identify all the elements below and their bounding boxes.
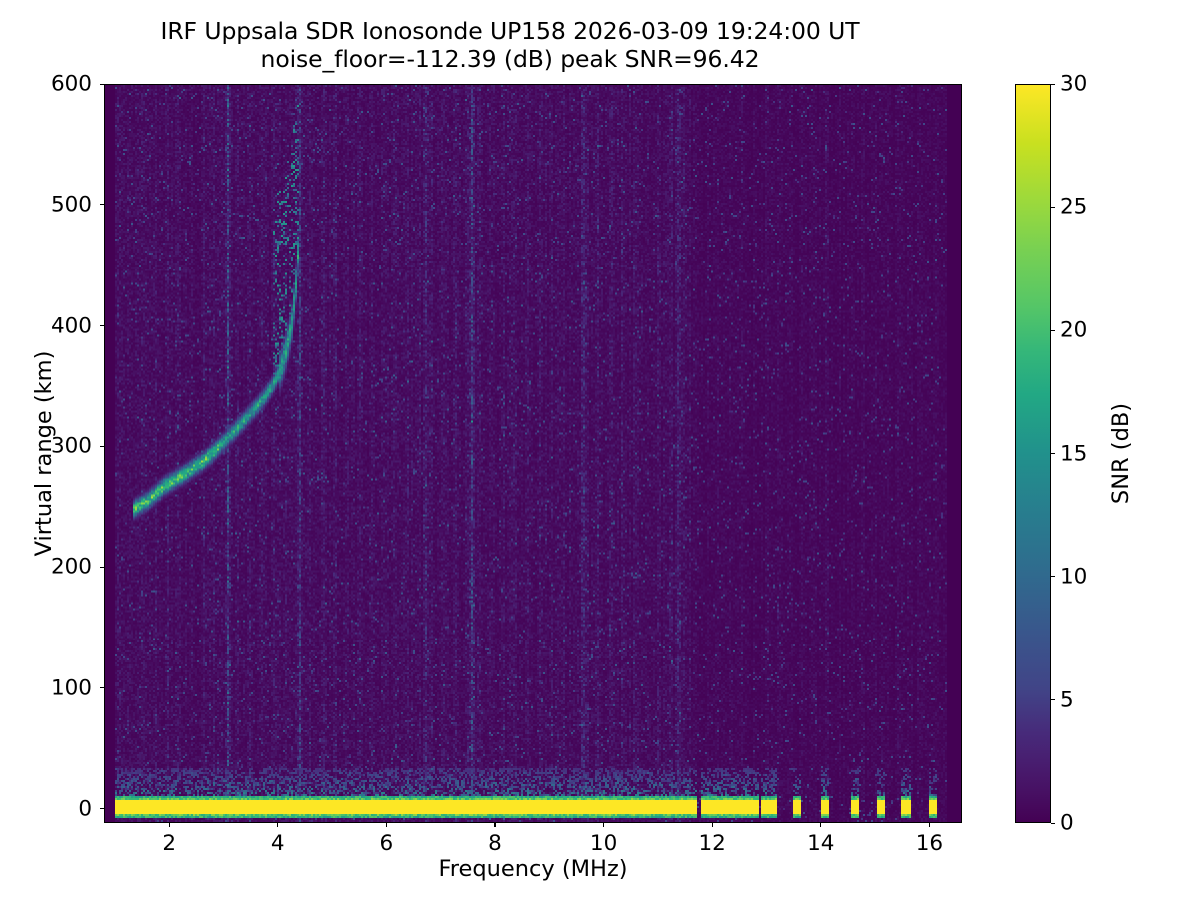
colorbar-tick-label: 0	[1060, 811, 1074, 836]
x-tick-label: 2	[162, 831, 176, 856]
colorbar-tick-mark	[1051, 453, 1055, 454]
x-tick-mark	[169, 823, 170, 827]
y-tick-mark	[100, 325, 104, 326]
y-tick-mark	[100, 446, 104, 447]
x-tick-label: 8	[488, 831, 502, 856]
y-tick-mark	[100, 567, 104, 568]
y-tick-mark	[100, 204, 104, 205]
x-tick-label: 10	[590, 831, 617, 856]
x-tick-label: 4	[271, 831, 285, 856]
ionogram-figure: IRF Uppsala SDR Ionosonde UP158 2026-03-…	[0, 0, 1200, 900]
x-tick-mark	[820, 823, 821, 827]
y-tick-mark	[100, 687, 104, 688]
colorbar-tick-label: 25	[1060, 195, 1087, 220]
x-tick-label: 16	[916, 831, 943, 856]
x-tick-label: 12	[699, 831, 726, 856]
y-axis-label: Virtual range (km)	[31, 84, 57, 823]
colorbar-tick-label: 15	[1060, 441, 1087, 466]
x-tick-mark	[386, 823, 387, 827]
y-tick-mark	[100, 84, 104, 85]
x-axis-label: Frequency (MHz)	[104, 856, 962, 882]
figure-title: IRF Uppsala SDR Ionosonde UP158 2026-03-…	[0, 18, 1020, 73]
x-tick-label: 14	[807, 831, 834, 856]
x-tick-mark	[603, 823, 604, 827]
x-tick-mark	[277, 823, 278, 827]
colorbar-tick-mark	[1051, 84, 1055, 85]
colorbar-tick-mark	[1051, 699, 1055, 700]
colorbar-tick-mark	[1051, 576, 1055, 577]
title-line-1: IRF Uppsala SDR Ionosonde UP158 2026-03-…	[0, 18, 1020, 46]
ionogram-plot-area	[104, 84, 962, 823]
colorbar-tick-label: 5	[1060, 687, 1074, 712]
colorbar-tick-mark	[1051, 330, 1055, 331]
colorbar-tick-label: 10	[1060, 564, 1087, 589]
x-tick-mark	[929, 823, 930, 827]
x-tick-mark	[494, 823, 495, 827]
x-tick-mark	[712, 823, 713, 827]
title-line-2: noise_floor=-112.39 (dB) peak SNR=96.42	[0, 46, 1020, 74]
ionogram-heatmap	[105, 85, 962, 823]
colorbar-tick-mark	[1051, 207, 1055, 208]
colorbar-tick-mark	[1051, 823, 1055, 824]
colorbar-label: SNR (dB)	[1108, 84, 1134, 823]
y-tick-mark	[100, 808, 104, 809]
colorbar-tick-label: 20	[1060, 318, 1087, 343]
colorbar-tick-label: 30	[1060, 72, 1087, 97]
x-tick-label: 6	[380, 831, 394, 856]
snr-colorbar	[1015, 84, 1051, 823]
